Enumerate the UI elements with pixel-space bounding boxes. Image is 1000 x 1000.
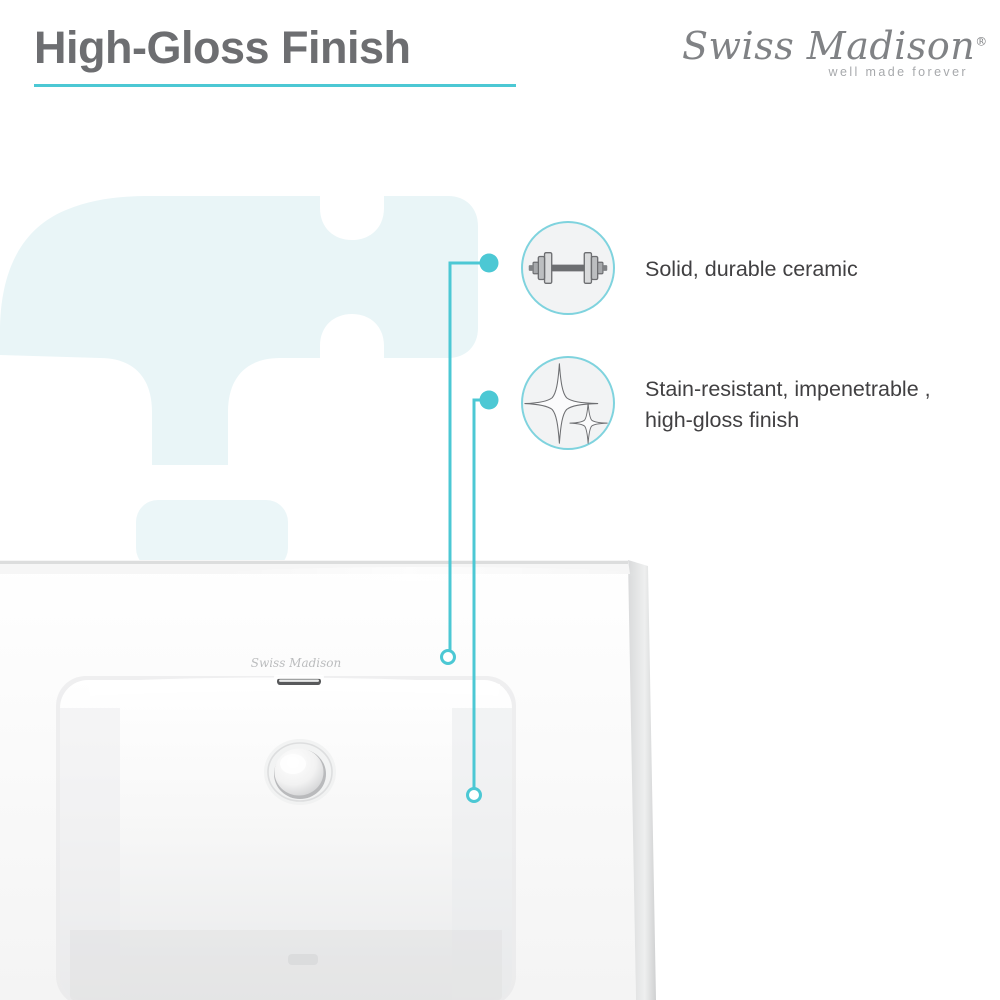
brand-name: Swiss Madison® <box>682 24 972 68</box>
registered-trademark-icon: ® <box>975 34 988 48</box>
infographic-page: High-Gloss Finish Swiss Madison® well ma… <box>0 0 1000 1000</box>
header: High-Gloss Finish Swiss Madison® well ma… <box>0 0 1000 110</box>
callout-text-ceramic: Solid, durable ceramic <box>645 254 975 285</box>
callout-text-gloss-line1: Stain-resistant, impenetrable , <box>645 374 990 405</box>
brand-name-text: Swiss Madison <box>682 24 975 68</box>
page-title: High-Gloss Finish <box>34 22 411 74</box>
leader-dot-gloss <box>480 391 499 410</box>
faucet-silhouette-background <box>0 150 520 570</box>
overflow-slot <box>274 675 324 685</box>
dumbbell-icon <box>523 223 613 313</box>
svg-text:Swiss Madison: Swiss Madison <box>251 656 342 670</box>
callout-text-gloss-line2: high-gloss finish <box>645 405 990 436</box>
basin-bottom-mark <box>288 954 318 965</box>
callout-icon-ceramic <box>521 221 615 315</box>
product-image-sink: Swiss Madison <box>0 530 700 1000</box>
brand-tagline: well made forever <box>829 65 968 79</box>
callout-icon-gloss <box>521 356 615 450</box>
leader-dot-ceramic <box>480 254 499 273</box>
chrome-drain <box>264 739 336 805</box>
brand-logo: Swiss Madison® well made forever <box>682 24 972 86</box>
title-underline <box>34 84 516 87</box>
etched-brand-logo: Swiss Madison <box>251 656 342 670</box>
callout-text-gloss: Stain-resistant, impenetrable , high-glo… <box>645 374 990 436</box>
sparkle-icon <box>523 358 613 448</box>
